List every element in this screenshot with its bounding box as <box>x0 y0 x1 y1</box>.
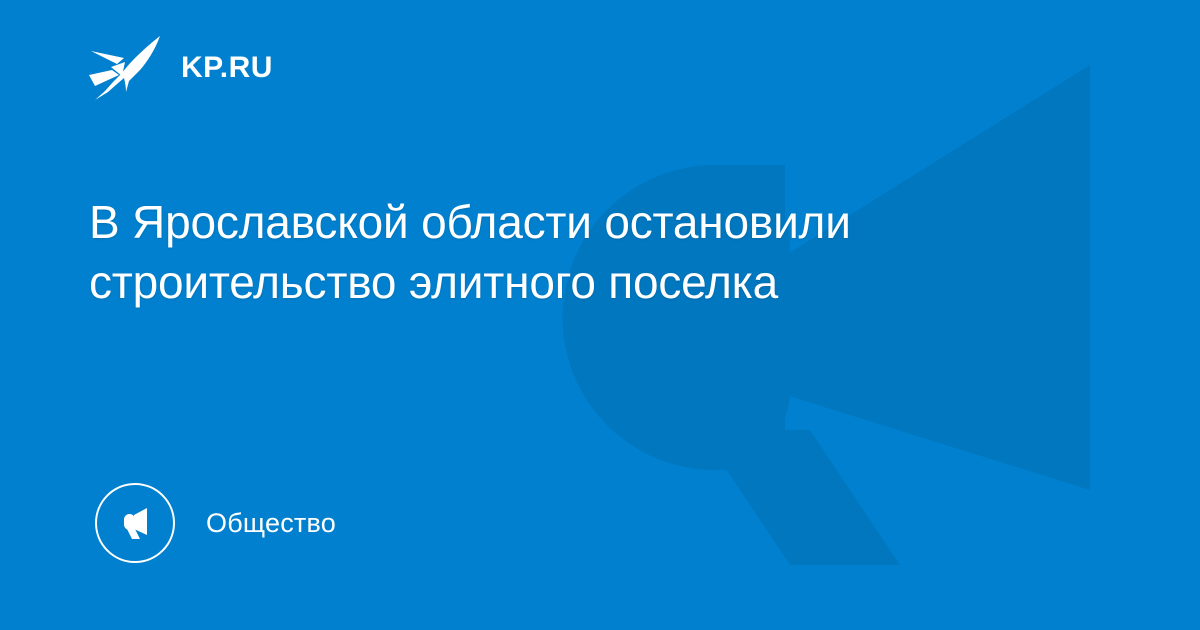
page-title: В Ярославской области остановили строите… <box>89 192 889 312</box>
megaphone-icon <box>114 502 156 544</box>
megaphone-icon-circle <box>95 483 175 563</box>
swallow-bird-logo-icon <box>89 34 161 102</box>
category-badge[interactable]: Общество <box>95 483 336 563</box>
brand-name: KP.RU <box>181 53 273 83</box>
category-label: Общество <box>206 508 336 539</box>
brand-header[interactable]: KP.RU <box>89 34 273 102</box>
article-share-card: KP.RU В Ярославской области остановили с… <box>0 0 1200 630</box>
